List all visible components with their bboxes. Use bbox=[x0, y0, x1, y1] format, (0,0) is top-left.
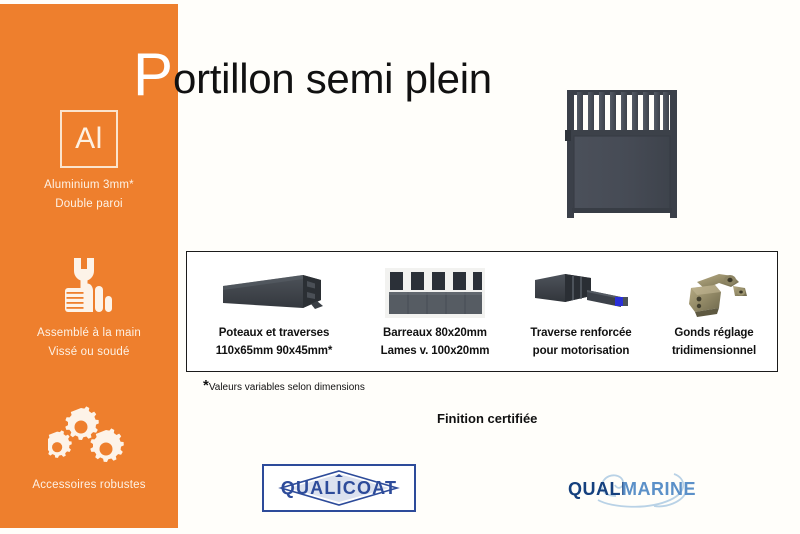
qualimarine-logo-label: QUALI bbox=[712, 466, 713, 467]
spec-item-crossbar-caption: Traverse renforcée pour motorisation bbox=[511, 324, 651, 360]
feature-aluminium-line2: Double paroi bbox=[0, 195, 178, 214]
spec-item-bars-line2: Lames v. 100x20mm bbox=[359, 342, 511, 360]
spec-item-crossbar: Traverse renforcée pour motorisation bbox=[511, 252, 651, 373]
spec-item-hinge: Gonds réglage tridimensionnel bbox=[651, 252, 777, 373]
page-title-rest: ortillon semi plein bbox=[173, 55, 492, 102]
aluminium-symbol-label: Al bbox=[60, 110, 118, 168]
hand-wrench-icon bbox=[0, 250, 178, 324]
profile-post-icon bbox=[189, 252, 359, 318]
footnote: *Valeurs variables selon dimensions bbox=[203, 381, 365, 394]
feature-aluminium-line1: Aluminium 3mm* bbox=[0, 176, 178, 195]
hinge-icon bbox=[651, 252, 777, 318]
feature-assembly-line1: Assemblé à la main bbox=[0, 324, 178, 343]
qualimarine-logo-text-light: MARINE bbox=[622, 479, 696, 499]
spec-item-posts-caption: Poteaux et traverses 110x65mm 90x45mm* bbox=[189, 324, 359, 360]
poster-page: Al Aluminium 3mm* Double paroi bbox=[0, 0, 800, 534]
spec-item-hinge-caption: Gonds réglage tridimensionnel bbox=[651, 324, 777, 360]
spec-box: Poteaux et traverses 110x65mm 90x45mm* bbox=[186, 251, 778, 372]
qualicoat-logo-text: QUALICOAT bbox=[281, 478, 397, 498]
feature-aluminium: Al Aluminium 3mm* Double paroi bbox=[0, 102, 178, 214]
qualimarine-logo: QUALI MARINE QUALI bbox=[562, 466, 712, 512]
spec-item-hinge-line1: Gonds réglage bbox=[674, 327, 753, 339]
feature-accessories: Accessoires robustes bbox=[0, 402, 178, 495]
gears-icon bbox=[0, 402, 178, 476]
spec-item-crossbar-line2: pour motorisation bbox=[511, 342, 651, 360]
page-title-initial: P bbox=[133, 41, 173, 108]
spec-item-posts-line1: Poteaux et traverses bbox=[219, 327, 330, 339]
feature-assembly: Assemblé à la main Vissé ou soudé bbox=[0, 250, 178, 362]
spec-item-bars: Barreaux 80x20mm Lames v. 100x20mm bbox=[359, 252, 511, 373]
spec-item-posts: Poteaux et traverses 110x65mm 90x45mm* bbox=[189, 252, 359, 373]
spec-item-hinge-line2: tridimensionnel bbox=[651, 342, 777, 360]
qualicoat-logo: QUALICOAT QUALICOAT bbox=[262, 464, 416, 512]
qualimarine-logo-text-dark: QUALI bbox=[568, 479, 627, 499]
spec-item-bars-line1: Barreaux 80x20mm bbox=[383, 327, 487, 339]
gate-photo bbox=[563, 78, 681, 218]
feature-assembly-line2: Vissé ou soudé bbox=[0, 343, 178, 362]
feature-accessories-line1: Accessoires robustes bbox=[0, 476, 178, 495]
aluminium-square-icon: Al bbox=[0, 102, 178, 176]
certification-title: Finition certifiée bbox=[437, 411, 537, 426]
footnote-text: Valeurs variables selon dimensions bbox=[209, 382, 365, 393]
spec-item-bars-caption: Barreaux 80x20mm Lames v. 100x20mm bbox=[359, 324, 511, 360]
spec-item-crossbar-line1: Traverse renforcée bbox=[530, 327, 631, 339]
spec-item-posts-line2: 110x65mm 90x45mm* bbox=[189, 342, 359, 360]
page-title: Portillon semi plein bbox=[133, 45, 492, 105]
reinforced-crossbar-icon bbox=[511, 252, 651, 318]
bars-slats-icon bbox=[359, 252, 511, 318]
